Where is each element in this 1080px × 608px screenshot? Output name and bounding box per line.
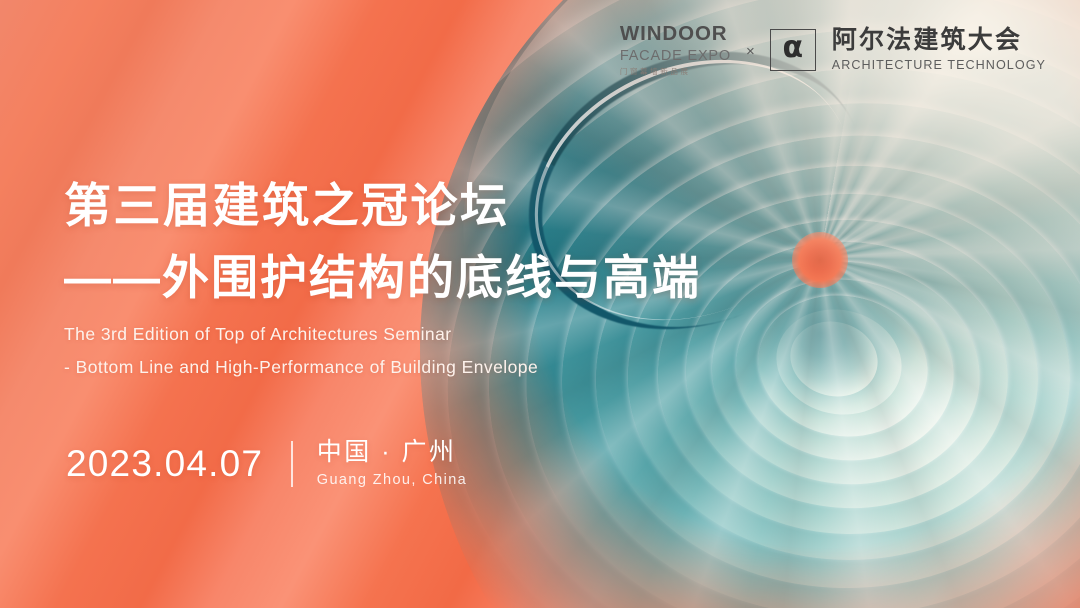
poster-title-line1: 第三届建筑之冠论坛 xyxy=(64,182,510,229)
alpha-conference-logo[interactable]: 阿尔法建筑大会 ARCHITECTURE TECHNOLOGY xyxy=(832,28,1046,72)
windoor-subtitle: FACADE EXPO xyxy=(620,49,731,64)
header-logo-lockup: WINDOOR FACADE EXPO 门窗幕墙新品展 × α 阿尔法建筑大会 … xyxy=(620,24,1046,76)
event-location: 中国 · 广州 Guang Zhou, China xyxy=(317,440,467,488)
event-poster: WINDOOR FACADE EXPO 门窗幕墙新品展 × α 阿尔法建筑大会 … xyxy=(0,0,1080,608)
windoor-chinese-tagline: 门窗幕墙新品展 xyxy=(620,68,691,76)
alpha-symbol-icon: α xyxy=(782,33,803,63)
poster-content: WINDOOR FACADE EXPO 门窗幕墙新品展 × α 阿尔法建筑大会 … xyxy=(0,0,1080,608)
event-location-en: Guang Zhou, China xyxy=(317,473,467,488)
event-date-location: 2023.04.07 中国 · 广州 Guang Zhou, China xyxy=(66,440,467,488)
windoor-logo[interactable]: WINDOOR FACADE EXPO 门窗幕墙新品展 xyxy=(620,24,731,76)
windoor-wordmark: WINDOOR xyxy=(620,24,728,45)
event-date: 2023.04.07 xyxy=(66,445,263,482)
event-location-cn: 中国 · 广州 xyxy=(317,440,467,465)
logo-cross-separator: × xyxy=(744,43,757,60)
alpha-mark-box[interactable]: α xyxy=(770,29,816,71)
poster-title-line2: ——外围护结构的底线与高端 xyxy=(64,254,701,301)
alpha-english-name: ARCHITECTURE TECHNOLOGY xyxy=(832,59,1046,72)
alpha-chinese-name: 阿尔法建筑大会 xyxy=(832,28,1022,53)
poster-subtitle-en-line1: The 3rd Edition of Top of Architectures … xyxy=(64,324,452,345)
poster-subtitle-en-line2: - Bottom Line and High-Performance of Bu… xyxy=(64,357,538,378)
date-location-divider xyxy=(291,441,293,487)
